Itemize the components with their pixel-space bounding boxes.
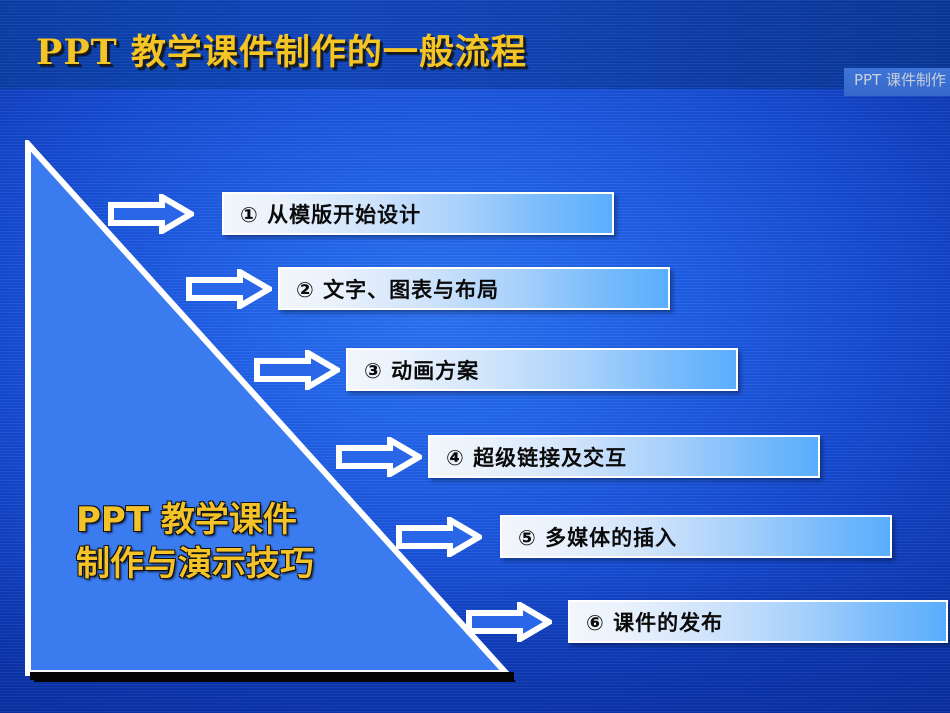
flow-step-label-4: ④ 超级链接及交互	[430, 442, 627, 472]
triangle-base-shadow	[30, 672, 514, 680]
flow-step-5: ⑤ 多媒体的插入	[0, 515, 950, 558]
flow-step-label-6: ⑥ 课件的发布	[570, 607, 723, 637]
flow-step-box-6[interactable]: ⑥ 课件的发布	[568, 600, 948, 643]
flow-step-label-1: ① 从模版开始设计	[224, 199, 421, 229]
flow-step-1: ① 从模版开始设计	[0, 192, 950, 235]
flow-step-box-5[interactable]: ⑤ 多媒体的插入	[500, 515, 892, 558]
arrow-icon-1	[108, 194, 194, 234]
flow-step-box-1[interactable]: ① 从模版开始设计	[222, 192, 614, 235]
arrow-icon-4	[336, 437, 422, 477]
arrow-icon-5	[396, 517, 482, 557]
flow-step-box-3[interactable]: ③ 动画方案	[346, 348, 738, 391]
flow-step-box-4[interactable]: ④ 超级链接及交互	[428, 435, 820, 478]
flow-step-2: ② 文字、图表与布局	[0, 267, 950, 310]
arrow-icon-2	[186, 269, 272, 309]
flow-step-label-5: ⑤ 多媒体的插入	[502, 522, 677, 552]
flow-step-label-2: ② 文字、图表与布局	[280, 274, 499, 304]
flow-step-3: ③ 动画方案	[0, 348, 950, 391]
flow-step-6: ⑥ 课件的发布	[0, 600, 950, 643]
slide-canvas: PPT 教学课件制作的一般流程 PPT 课件制作 PPT 教学课件 制作与演示技…	[0, 0, 950, 713]
flow-step-4: ④ 超级链接及交互	[0, 435, 950, 478]
flow-step-label-3: ③ 动画方案	[348, 355, 479, 385]
page-title: PPT 教学课件制作的一般流程	[36, 24, 527, 75]
arrow-icon-3	[254, 350, 340, 390]
arrow-icon-6	[466, 602, 552, 642]
header-tag: PPT 课件制作	[844, 68, 950, 96]
flow-step-box-2[interactable]: ② 文字、图表与布局	[278, 267, 670, 310]
